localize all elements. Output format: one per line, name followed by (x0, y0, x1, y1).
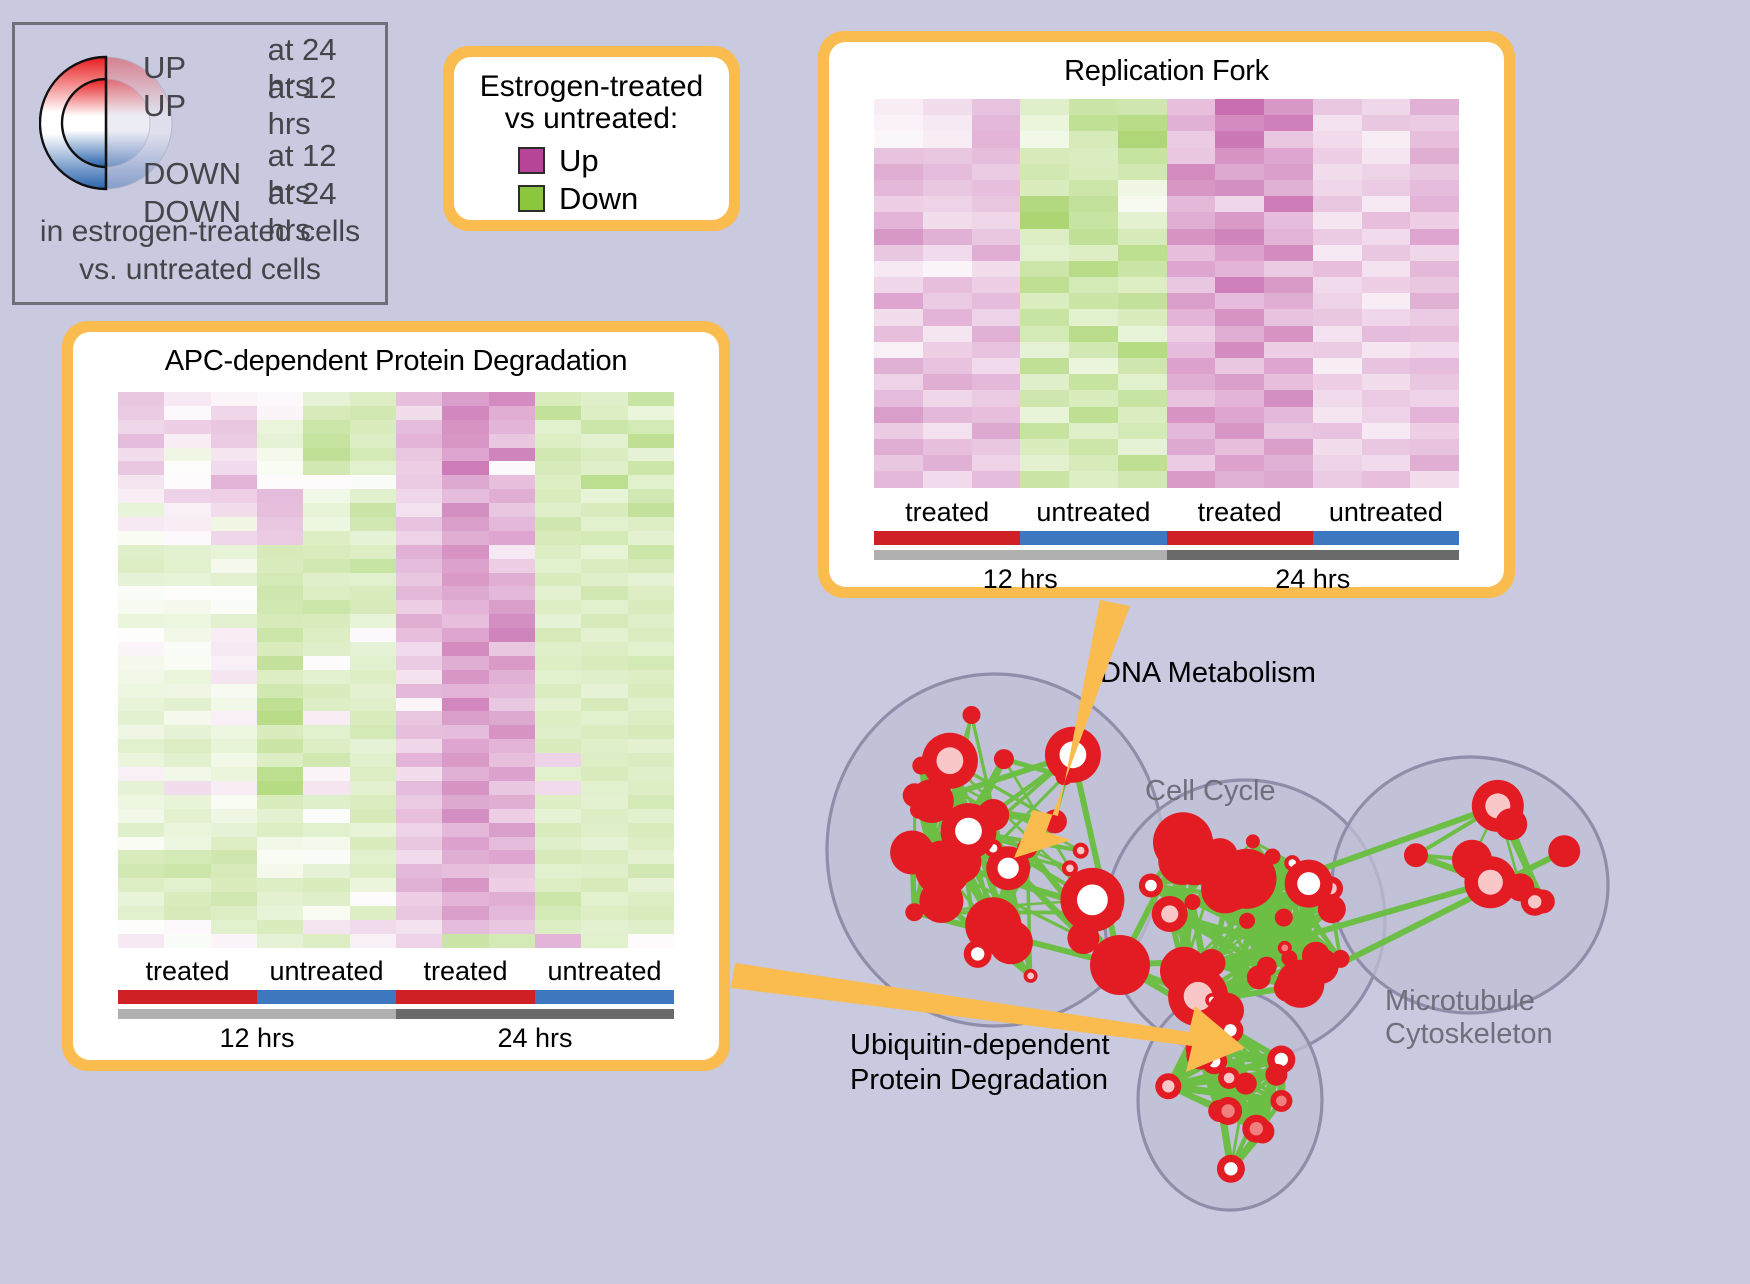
heatmap-cell (1167, 374, 1216, 390)
heatmap-cell (118, 559, 164, 573)
treatment-bar (874, 531, 1459, 545)
network-node-core (971, 947, 984, 960)
heatmap-cell (874, 196, 923, 212)
heatmap-cell (442, 670, 488, 684)
replication-fork-inner: Replication Fork treated untreated treat… (829, 42, 1504, 587)
heatmap-cell (1410, 423, 1459, 439)
heatmap-cell (1313, 115, 1362, 131)
heatmap-cell (211, 934, 257, 948)
heatmap-cell (1410, 148, 1459, 164)
heatmap-cell (164, 809, 210, 823)
heatmap-cell (1020, 439, 1069, 455)
heatmap-cell (211, 906, 257, 920)
heatmap-cell (581, 823, 627, 837)
heatmap-cell (581, 573, 627, 587)
heatmap-cell (350, 906, 396, 920)
heatmap-cell (164, 850, 210, 864)
network-node (912, 757, 930, 775)
heatmap-cell (1167, 164, 1216, 180)
heatmap-cell (535, 684, 581, 698)
heatmap-cell (874, 115, 923, 131)
heatmap-cell (211, 586, 257, 600)
heatmap-cell (396, 434, 442, 448)
network-node (1548, 835, 1580, 867)
heatmap-cell (211, 711, 257, 725)
heatmap-cell (303, 837, 349, 851)
heatmap-cell (211, 573, 257, 587)
heatmap-cell (1264, 261, 1313, 277)
heatmap-cell (442, 420, 488, 434)
heatmap-cell (164, 392, 210, 406)
apc-degradation-heatmap (118, 392, 674, 948)
heatmap-cell (350, 656, 396, 670)
network-node-core (1077, 847, 1085, 855)
heatmap-cell (535, 864, 581, 878)
heatmap-cell (1118, 407, 1167, 423)
heatmap-cell (581, 448, 627, 462)
heatmap-cell (211, 406, 257, 420)
heatmap-cell (303, 878, 349, 892)
key-direction: UP (143, 88, 268, 124)
heatmap-cell (442, 698, 488, 712)
heatmap-cell (581, 934, 627, 948)
heatmap-cell (1215, 131, 1264, 147)
heatmap-cell (442, 781, 488, 795)
heatmap-cell (1264, 439, 1313, 455)
heatmap-cell (211, 600, 257, 614)
heatmap-cell (164, 503, 210, 517)
heatmap-cell (1264, 423, 1313, 439)
heatmap-cell (350, 684, 396, 698)
heatmap-cell (1362, 374, 1411, 390)
heatmap-cell (303, 448, 349, 462)
heatmap-cell (303, 614, 349, 628)
heatmap-cell (211, 503, 257, 517)
heatmap-cell (1264, 390, 1313, 406)
heatmap-cell (164, 600, 210, 614)
heatmap-cell (923, 374, 972, 390)
heatmap-cell (257, 878, 303, 892)
heatmap-cell (489, 656, 535, 670)
heatmap-cell (442, 392, 488, 406)
heatmap-cell (350, 573, 396, 587)
heatmap-cell (211, 725, 257, 739)
heatmap-cell (1313, 390, 1362, 406)
heatmap-cell (1020, 115, 1069, 131)
heatmap-cell (972, 99, 1021, 115)
heatmap-cell (628, 392, 674, 406)
heatmap-cell (489, 614, 535, 628)
heatmap-cell (535, 823, 581, 837)
heatmap-cell (1264, 180, 1313, 196)
heatmap-cell (923, 439, 972, 455)
heatmap-cell (1020, 164, 1069, 180)
heatmap-cell (303, 670, 349, 684)
heatmap-cell (535, 573, 581, 587)
heatmap-cell (535, 725, 581, 739)
heatmap-cell (164, 781, 210, 795)
heatmap-cell (972, 326, 1021, 342)
heatmap-cell (489, 684, 535, 698)
heatmap-cell (628, 573, 674, 587)
heatmap-cell (164, 892, 210, 906)
heatmap-cell (164, 559, 210, 573)
heatmap-cell (1215, 99, 1264, 115)
heatmap-cell (396, 906, 442, 920)
heatmap-cell (535, 531, 581, 545)
heatmap-cell (581, 725, 627, 739)
heatmap-cell (1362, 326, 1411, 342)
heatmap-cell (1069, 455, 1118, 471)
network-node-core (1250, 1122, 1263, 1135)
heatmap-cell (874, 471, 923, 487)
heatmap-cell (535, 448, 581, 462)
heatmap-cell (1410, 131, 1459, 147)
heatmap-cell (1118, 261, 1167, 277)
heatmap-cell (1118, 471, 1167, 487)
heatmap-cell (874, 407, 923, 423)
heatmap-cell (303, 559, 349, 573)
heatmap-cell (396, 739, 442, 753)
heatmap-cell (211, 823, 257, 837)
heatmap-cell (442, 906, 488, 920)
heatmap-cell (628, 823, 674, 837)
footnote-line-1: in estrogen-treated cells (15, 213, 385, 251)
heatmap-cell (1020, 245, 1069, 261)
heatmap-cell (1118, 245, 1167, 261)
heatmap-cell (396, 545, 442, 559)
heatmap-cell (489, 642, 535, 656)
heatmap-cell (257, 573, 303, 587)
heatmap-cell (164, 448, 210, 462)
heatmap-cell (972, 358, 1021, 374)
heatmap-cell (1167, 309, 1216, 325)
heatmap-cell (257, 809, 303, 823)
heatmap-cell (442, 434, 488, 448)
heatmap-cell (257, 531, 303, 545)
heatmap-cell (1069, 342, 1118, 358)
network-node (994, 749, 1014, 769)
heatmap-cell (581, 878, 627, 892)
heatmap-cell (1362, 196, 1411, 212)
heatmap-cell (118, 434, 164, 448)
heatmap-cell (442, 628, 488, 642)
heatmap-cell (581, 489, 627, 503)
heatmap-cell (535, 878, 581, 892)
heatmap-cell (164, 711, 210, 725)
heatmap-cell (535, 559, 581, 573)
heatmap-cell (1167, 99, 1216, 115)
heatmap-cell (874, 455, 923, 471)
treatment-bar (118, 990, 674, 1004)
heatmap-cell (1264, 99, 1313, 115)
heatmap-cell (1118, 309, 1167, 325)
heatmap-cell (118, 892, 164, 906)
heatmap-cell (257, 837, 303, 851)
heatmap-cell (1069, 471, 1118, 487)
heatmap-cell (535, 781, 581, 795)
network-node (890, 831, 934, 875)
heatmap-cell (1215, 358, 1264, 374)
heatmap-cell (442, 934, 488, 948)
heatmap-cell (211, 448, 257, 462)
heatmap-cell (118, 517, 164, 531)
network-node-core (1224, 1073, 1235, 1084)
network-node (963, 706, 981, 724)
untreated-bar-segment (257, 990, 396, 1004)
heatmap-cell (489, 448, 535, 462)
heatmap-cell (1020, 148, 1069, 164)
heatmap-cell (396, 503, 442, 517)
network-node-core (1060, 741, 1087, 768)
heatmap-cell (1167, 293, 1216, 309)
heatmap-cell (1215, 309, 1264, 325)
heatmap-cell (396, 837, 442, 851)
heatmap-cell (1118, 148, 1167, 164)
heatmap-cell (628, 461, 674, 475)
time-label: 24 hrs (1167, 564, 1460, 595)
network-node (1043, 809, 1067, 833)
heatmap-cell (164, 878, 210, 892)
heatmap-cell (628, 795, 674, 809)
estrogen-legend-inner: Estrogen-treated vs untreated: Up Down (454, 57, 729, 220)
heatmap-cell (396, 767, 442, 781)
heatmap-cell (535, 434, 581, 448)
heatmap-cell (1020, 196, 1069, 212)
heatmap-cell (874, 261, 923, 277)
heatmap-cell (535, 642, 581, 656)
heatmap-cell (581, 545, 627, 559)
heatmap-cell (303, 906, 349, 920)
heatmap-cell (581, 461, 627, 475)
heatmap-cell (1020, 277, 1069, 293)
heatmap-cell (442, 711, 488, 725)
heatmap-cell (1167, 115, 1216, 131)
heatmap-cell (1362, 131, 1411, 147)
heatmap-cell (396, 628, 442, 642)
heatmap-cell (972, 293, 1021, 309)
heatmap-cell (211, 420, 257, 434)
heatmap-cell (164, 475, 210, 489)
heatmap-cell (211, 642, 257, 656)
heatmap-cell (581, 795, 627, 809)
heatmap-cell (1020, 212, 1069, 228)
heatmap-cell (1118, 326, 1167, 342)
time-bar (118, 1009, 674, 1019)
heatmap-cell (396, 878, 442, 892)
heatmap-cell (972, 407, 1021, 423)
heatmap-cell (1313, 229, 1362, 245)
heatmap-cell (1313, 439, 1362, 455)
heatmap-cell (164, 656, 210, 670)
heatmap-cell (535, 767, 581, 781)
heatmap-cell (118, 642, 164, 656)
network-node-core (955, 818, 982, 845)
ubiquitin-line-1: Ubiquitin-dependent (850, 1028, 1110, 1063)
heatmap-cell (489, 698, 535, 712)
legend-label-down: Down (559, 183, 638, 214)
heatmap-cell (874, 342, 923, 358)
heatmap-cell (874, 131, 923, 147)
heatmap-cell (1264, 148, 1313, 164)
heatmap-cell (923, 455, 972, 471)
heatmap-cell (535, 489, 581, 503)
heatmap-cell (350, 892, 396, 906)
heatmap-cell (1264, 407, 1313, 423)
heatmap-cell (874, 212, 923, 228)
heatmap-cell (257, 628, 303, 642)
heatmap-cell (972, 309, 1021, 325)
heatmap-cell (535, 739, 581, 753)
heatmap-cell (396, 420, 442, 434)
heatmap-cell (535, 670, 581, 684)
heatmap-cell (628, 628, 674, 642)
heatmap-cell (628, 600, 674, 614)
heatmap-cell (118, 392, 164, 406)
heatmap-cell (972, 212, 1021, 228)
heatmap-cell (923, 99, 972, 115)
heatmap-cell (1215, 439, 1264, 455)
heatmap-cell (257, 656, 303, 670)
network-node-core (1224, 1162, 1237, 1175)
heatmap-cell (489, 586, 535, 600)
heatmap-cell (442, 823, 488, 837)
heatmap-cell (303, 600, 349, 614)
heatmap-cell (303, 809, 349, 823)
heatmap-cell (164, 461, 210, 475)
key-time: at 12 hrs (268, 70, 385, 142)
time-label: 24 hrs (396, 1023, 674, 1054)
heatmap-cell (118, 684, 164, 698)
time-labels: 12 hrs 24 hrs (118, 1023, 674, 1054)
heatmap-cell (1020, 131, 1069, 147)
heatmap-cell (581, 628, 627, 642)
heatmap-cell (350, 725, 396, 739)
heatmap-cell (489, 461, 535, 475)
heatmap-cell (350, 406, 396, 420)
heatmap-cell (1069, 407, 1118, 423)
heatmap-cell (535, 392, 581, 406)
heatmap-cell (350, 670, 396, 684)
heatmap-cell (396, 475, 442, 489)
heatmap-cell (257, 559, 303, 573)
heatmap-cell (1069, 148, 1118, 164)
network-node-core (937, 747, 964, 774)
heatmap-cell (972, 439, 1021, 455)
network-node-core (1066, 865, 1074, 873)
heatmap-cell (874, 148, 923, 164)
figure-canvas: UP at 24 hrs UP at 12 hrs DOWN at 12 hrs… (0, 0, 1750, 1279)
heatmap-cell (1215, 342, 1264, 358)
heatmap-cell (303, 934, 349, 948)
heatmap-cell (1313, 180, 1362, 196)
network-node-core (1194, 1049, 1207, 1062)
heatmap-cell (1069, 390, 1118, 406)
heatmap-cell (535, 517, 581, 531)
network-node (1275, 909, 1293, 927)
key-direction: DOWN (143, 156, 268, 192)
heatmap-cell (1264, 326, 1313, 342)
heatmap-cell (303, 642, 349, 656)
heatmap-cell (535, 545, 581, 559)
network-node (1090, 935, 1150, 995)
heatmap-cell (628, 809, 674, 823)
heatmap-cell (489, 392, 535, 406)
heatmap-cell (211, 392, 257, 406)
heatmap-cell (581, 420, 627, 434)
heatmap-cell (211, 434, 257, 448)
heatmap-cell (1020, 455, 1069, 471)
heatmap-cell (489, 628, 535, 642)
heatmap-cell (118, 698, 164, 712)
heatmap-cell (1020, 309, 1069, 325)
heatmap-cell (1118, 455, 1167, 471)
heatmap-cell (1118, 131, 1167, 147)
heatmap-cell (1362, 212, 1411, 228)
heatmap-cell (581, 559, 627, 573)
heatmap-cell (1215, 180, 1264, 196)
heatmap-cell (396, 586, 442, 600)
heatmap-cell (628, 920, 674, 934)
time-bar-12hrs (874, 550, 1167, 560)
network-node (1303, 948, 1339, 984)
heatmap-cell (164, 864, 210, 878)
heatmap-cell (396, 809, 442, 823)
heatmap-cell (164, 586, 210, 600)
heatmap-cell (396, 684, 442, 698)
heatmap-cell (350, 920, 396, 934)
heatmap-cell (489, 434, 535, 448)
heatmap-cell (1264, 309, 1313, 325)
heatmap-cell (118, 850, 164, 864)
heatmap-cell (1313, 326, 1362, 342)
heatmap-cell (118, 475, 164, 489)
heatmap-cell (1215, 407, 1264, 423)
heatmap-cell (923, 390, 972, 406)
heatmap-cell (581, 517, 627, 531)
heatmap-cell (1215, 423, 1264, 439)
heatmap-cell (350, 642, 396, 656)
heatmap-cell (923, 131, 972, 147)
network-node (1247, 965, 1271, 989)
heatmap-cell (1215, 390, 1264, 406)
heatmap-cell (350, 545, 396, 559)
heatmap-cell (211, 461, 257, 475)
network-node-core (1478, 870, 1503, 895)
heatmap-cell (1313, 374, 1362, 390)
heatmap-cell (581, 920, 627, 934)
heatmap-cell (303, 711, 349, 725)
heatmap-cell (211, 809, 257, 823)
heatmap-cell (628, 864, 674, 878)
heatmap-cell (211, 559, 257, 573)
heatmap-cell (1020, 374, 1069, 390)
heatmap-cell (972, 423, 1021, 439)
heatmap-cell (535, 892, 581, 906)
heatmap-cell (1410, 471, 1459, 487)
group-labels: treated untreated treated untreated (118, 956, 674, 987)
heatmap-cell (257, 600, 303, 614)
untreated-bar-segment (535, 990, 674, 1004)
heatmap-cell (396, 461, 442, 475)
heatmap-cell (303, 684, 349, 698)
heatmap-cell (350, 420, 396, 434)
network-node (1495, 808, 1527, 840)
heatmap-cell (535, 656, 581, 670)
heatmap-cell (303, 545, 349, 559)
up-swatch-icon (518, 147, 545, 174)
heatmap-cell (874, 293, 923, 309)
